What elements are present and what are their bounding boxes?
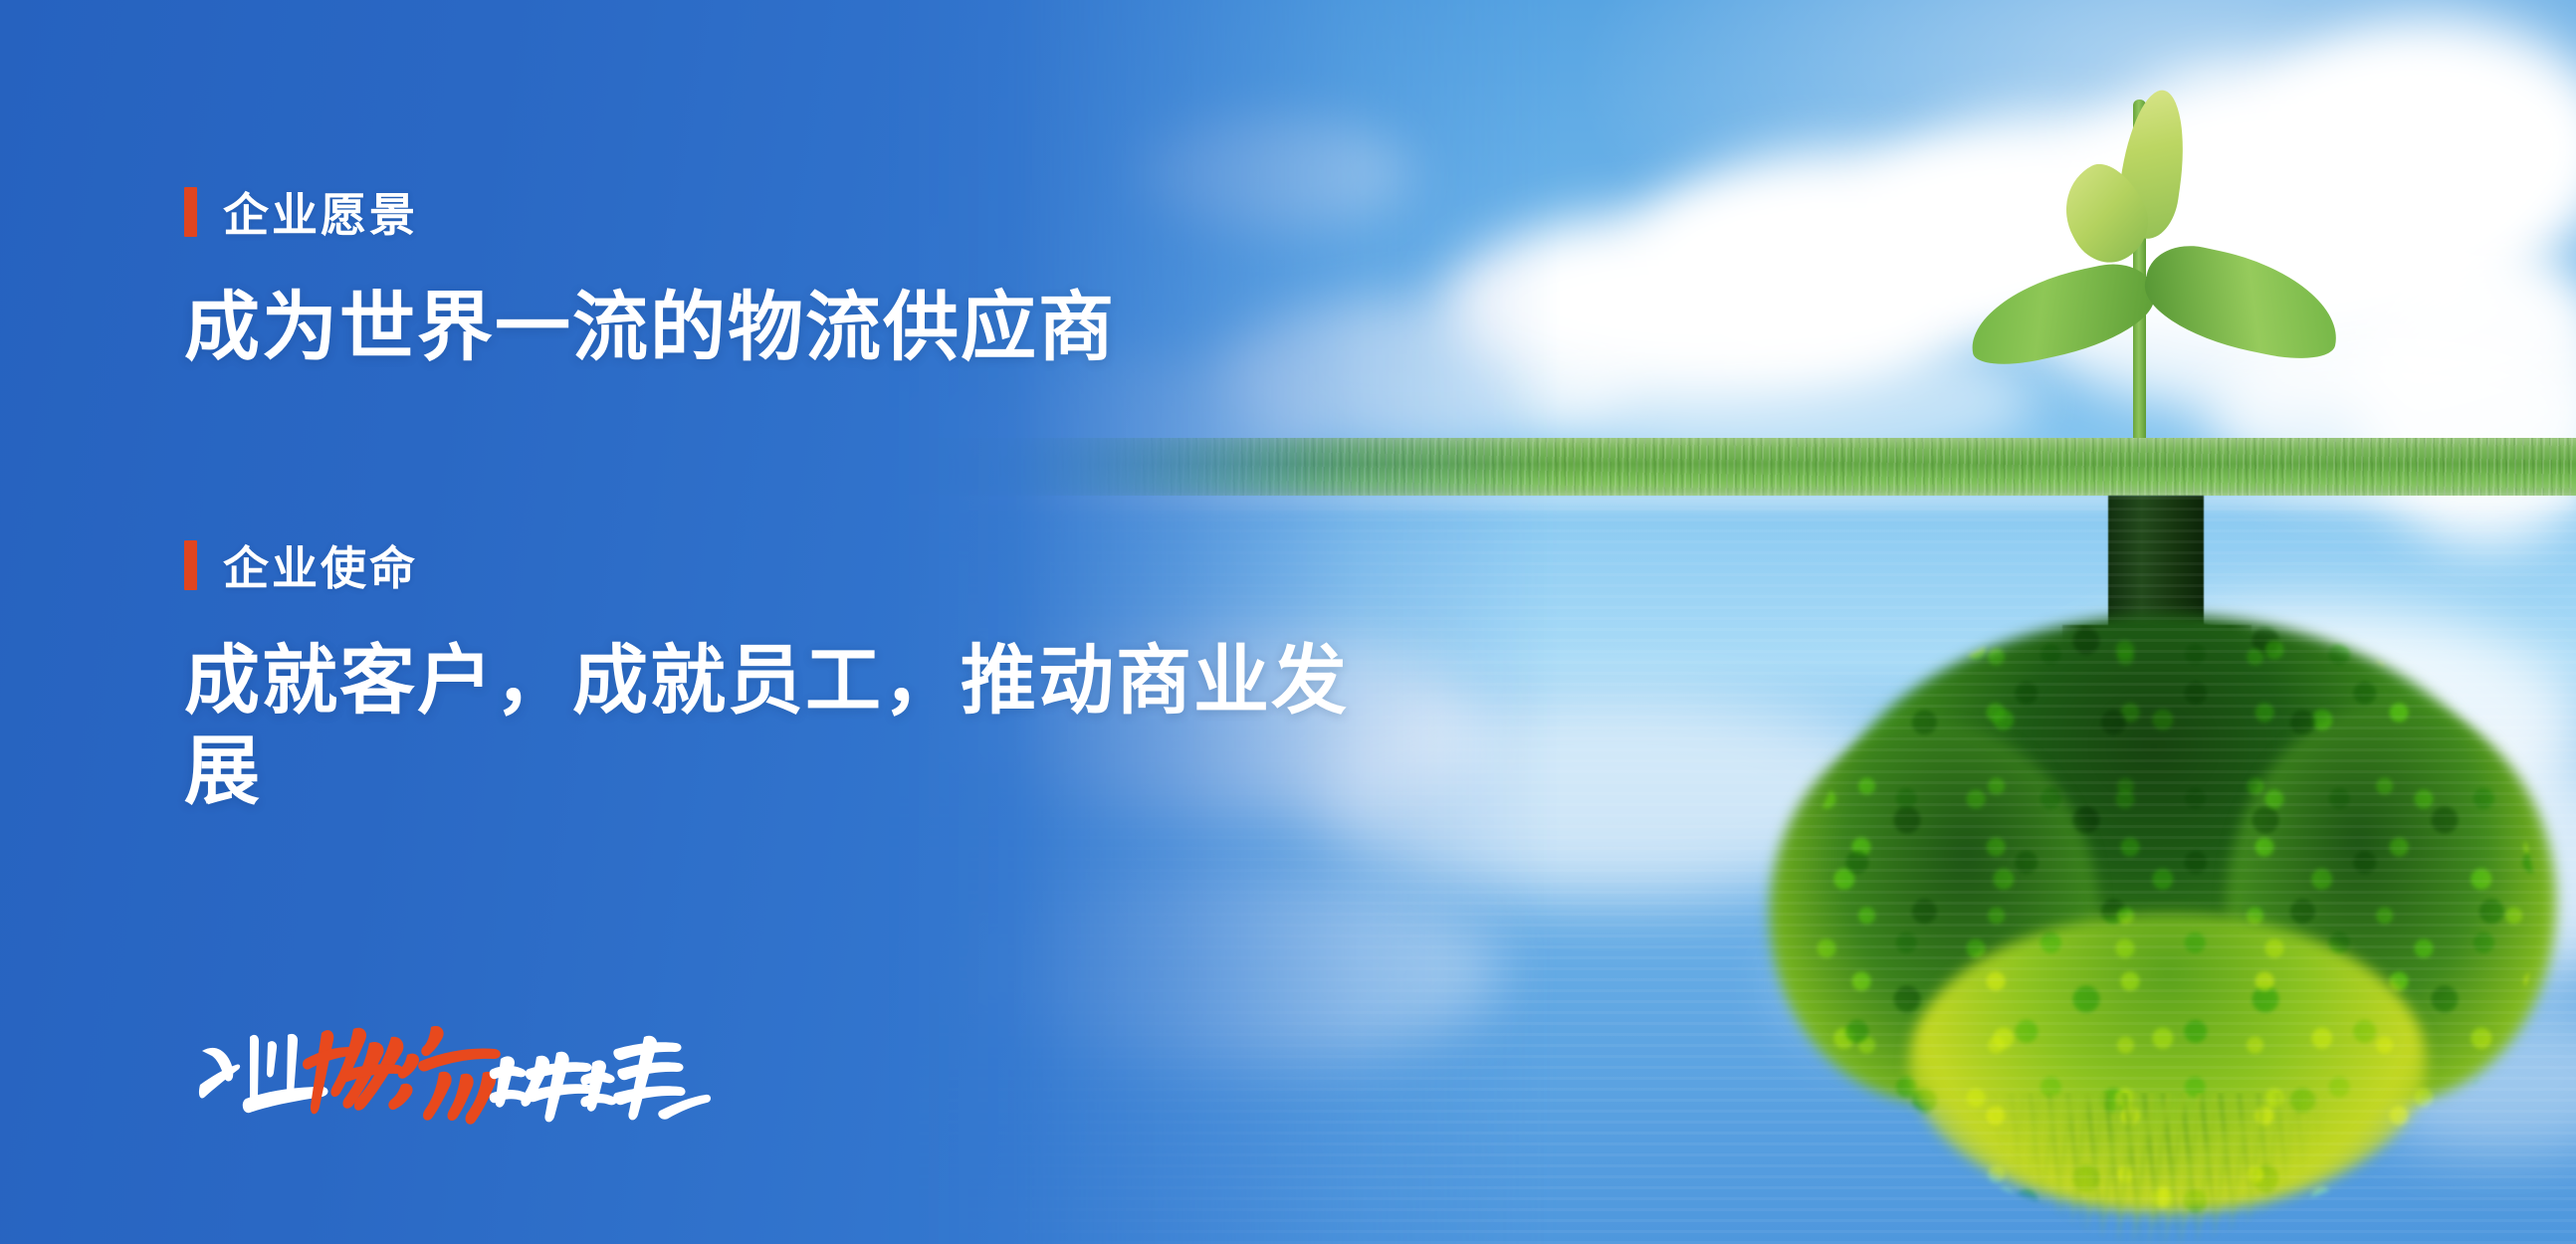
brush-slogan-artwork	[194, 1007, 712, 1137]
leaf-icon	[2136, 237, 2350, 368]
vision-eyebrow-label: 企业愿景	[223, 179, 418, 245]
accent-bar-icon	[184, 187, 197, 237]
vision-block: 企业愿景 成为世界一流的物流供应商	[184, 179, 1394, 373]
text-panel: 企业愿景 成为世界一流的物流供应商 企业使命 成就客户，成就员工，推动商业发展	[0, 0, 1394, 1244]
mission-block: 企业使命 成就客户，成就员工，推动商业发展	[184, 532, 1394, 817]
mission-eyebrow-label: 企业使命	[223, 532, 418, 598]
accent-bar-icon	[184, 540, 197, 590]
brush-char-liu	[388, 1025, 501, 1124]
brush-char-rang	[199, 1033, 328, 1112]
green-sprout	[1939, 80, 2357, 458]
brush-slogan	[194, 1007, 712, 1137]
vision-headline: 成为世界一流的物流供应商	[184, 283, 1394, 373]
brush-char-lian	[490, 1051, 594, 1122]
brush-flick	[658, 1094, 711, 1119]
vision-mission-banner: 企业愿景 成为世界一流的物流供应商 企业使命 成就客户，成就员工，推动商业发展	[0, 0, 2576, 1244]
spacer	[184, 373, 1394, 532]
foliage-drip-edge	[1989, 1093, 2327, 1244]
inverted-tree-reflection	[1760, 496, 2576, 1222]
mission-headline: 成就客户，成就员工，推动商业发展	[184, 636, 1394, 817]
mission-eyebrow: 企业使命	[184, 532, 1394, 598]
vision-eyebrow: 企业愿景	[184, 179, 1394, 245]
leaf-icon	[1961, 256, 2162, 373]
brush-char-wu	[303, 1027, 403, 1114]
spacer	[184, 818, 1394, 1007]
